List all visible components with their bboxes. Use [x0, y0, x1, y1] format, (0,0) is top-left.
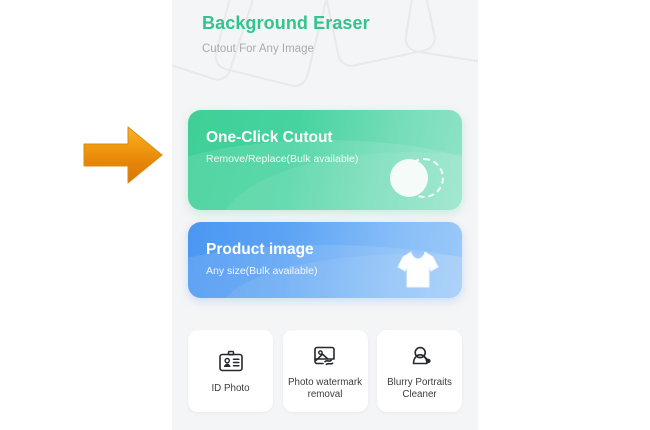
id-card-icon	[217, 348, 245, 376]
screenshot-canvas: Background Eraser Cutout For Any Image O…	[0, 0, 650, 430]
app-header: Background Eraser Cutout For Any Image	[172, 0, 478, 56]
tshirt-icon	[394, 246, 442, 292]
page-subtitle: Cutout For Any Image	[202, 42, 448, 56]
image-watermark-icon	[311, 342, 339, 370]
solid-circle-icon	[390, 159, 428, 197]
page-title: Background Eraser	[202, 10, 448, 36]
tool-tile-id-photo[interactable]: ID Photo	[188, 330, 273, 412]
app-viewport: Background Eraser Cutout For Any Image O…	[172, 0, 478, 430]
tool-tile-blurry-portraits-cleaner[interactable]: Blurry Portraits Cleaner	[377, 330, 462, 412]
tool-tile-list: ID Photo Photo watermark removal	[188, 330, 462, 412]
feature-card-one-click-cutout[interactable]: One-Click Cutout Remove/Replace(Bulk ava…	[188, 110, 462, 210]
feature-card-title: One-Click Cutout	[206, 128, 462, 147]
tool-tile-label: ID Photo	[208, 383, 252, 395]
tool-tile-photo-watermark-removal[interactable]: Photo watermark removal	[283, 330, 368, 412]
tool-tile-label: Blurry Portraits Cleaner	[377, 377, 462, 401]
dashed-circle-cutout-icon	[390, 154, 444, 202]
orange-right-arrow-icon	[82, 122, 166, 188]
feature-card-list: One-Click Cutout Remove/Replace(Bulk ava…	[188, 110, 462, 298]
feature-card-product-image[interactable]: Product image Any size(Bulk available)	[188, 222, 462, 298]
tool-tile-label: Photo watermark removal	[283, 377, 368, 401]
portrait-magnifier-icon	[406, 342, 434, 370]
